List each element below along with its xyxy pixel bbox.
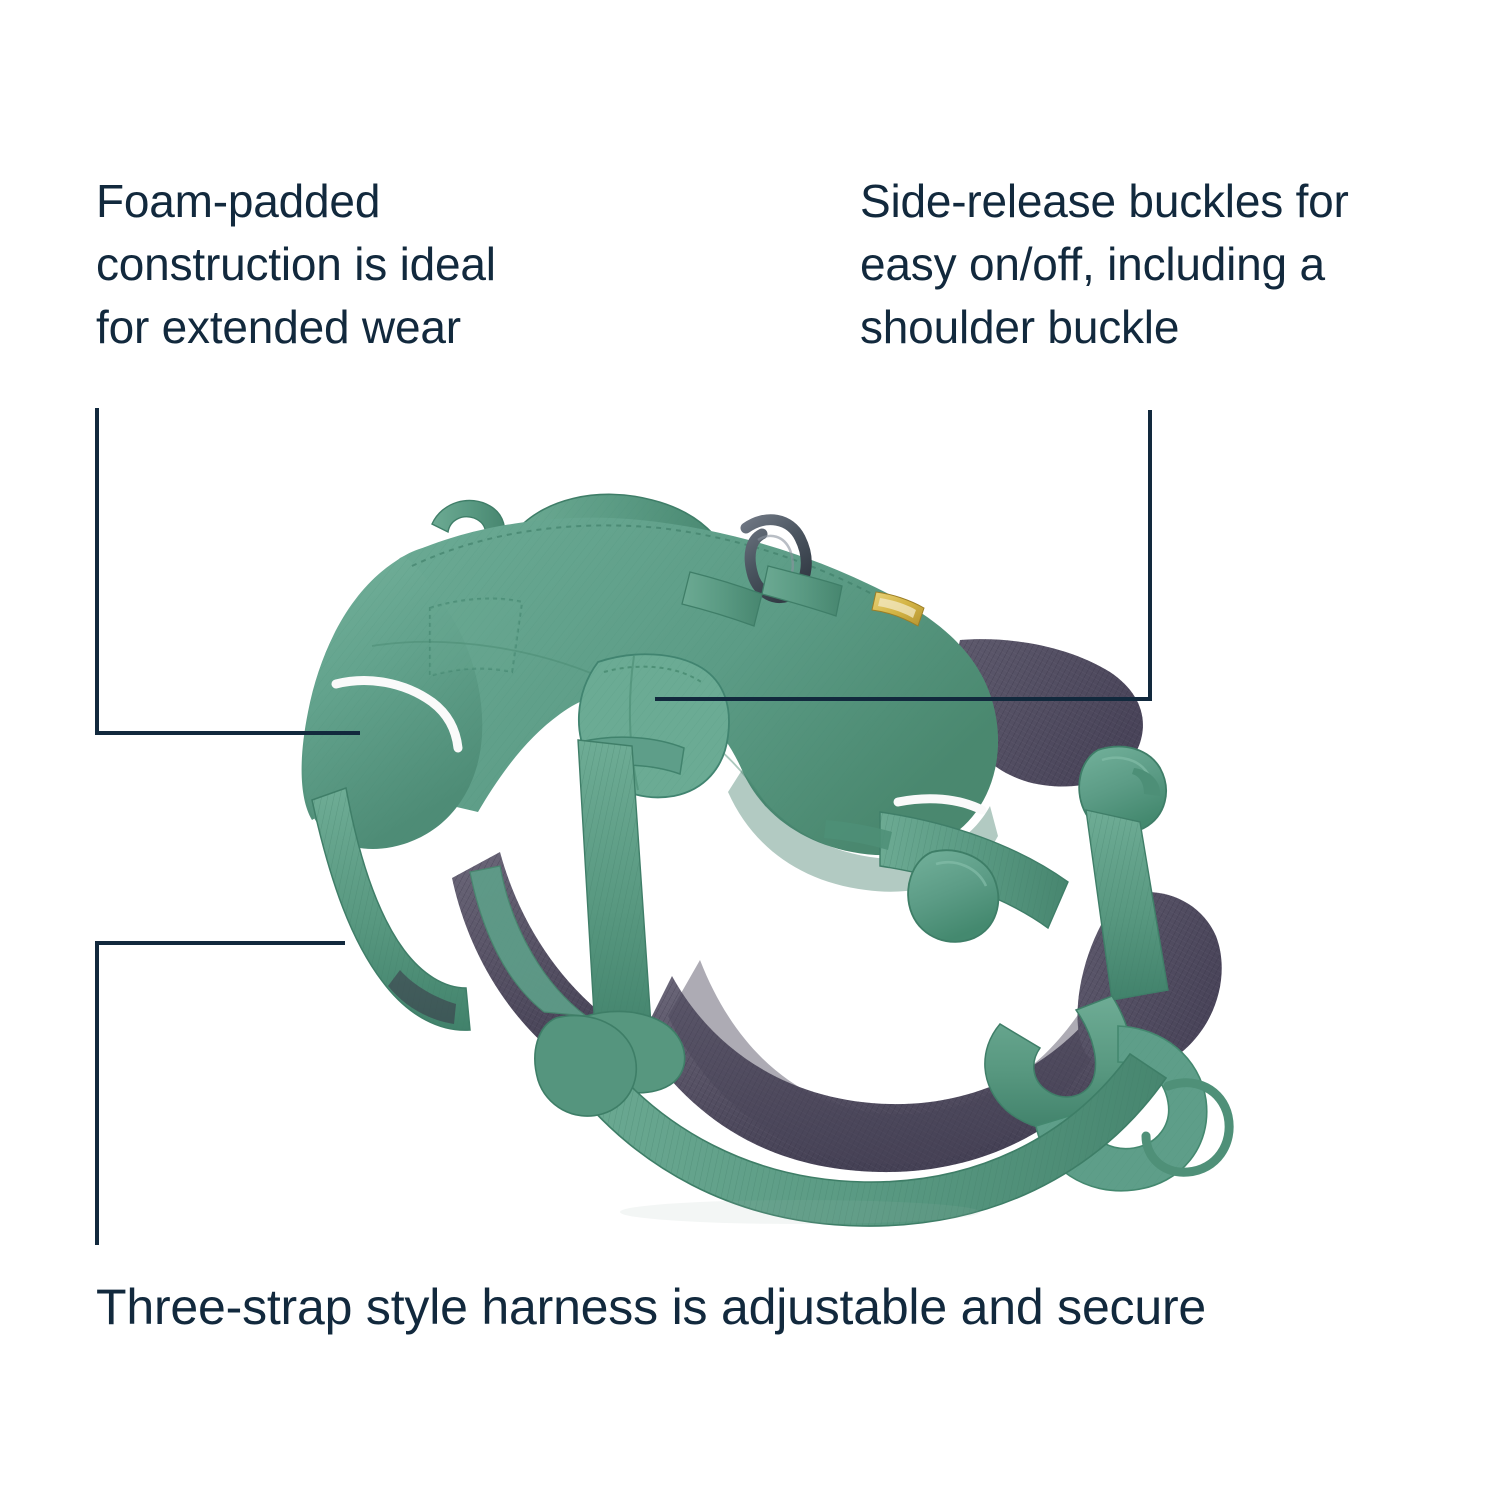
- callout-side-release-buckles-text: Side-release buckles for easy on/off, in…: [860, 170, 1460, 359]
- leader-line-foam-padded: [97, 408, 360, 733]
- leader-line-side-release-buckles: [655, 410, 1150, 699]
- callout-foam-padded-text: Foam-padded construction is ideal for ex…: [96, 170, 616, 359]
- callout-three-strap-text: Three-strap style harness is adjustable …: [96, 1278, 1426, 1336]
- infographic-canvas: Foam-padded construction is ideal for ex…: [0, 0, 1500, 1500]
- leader-line-three-strap: [97, 943, 345, 1245]
